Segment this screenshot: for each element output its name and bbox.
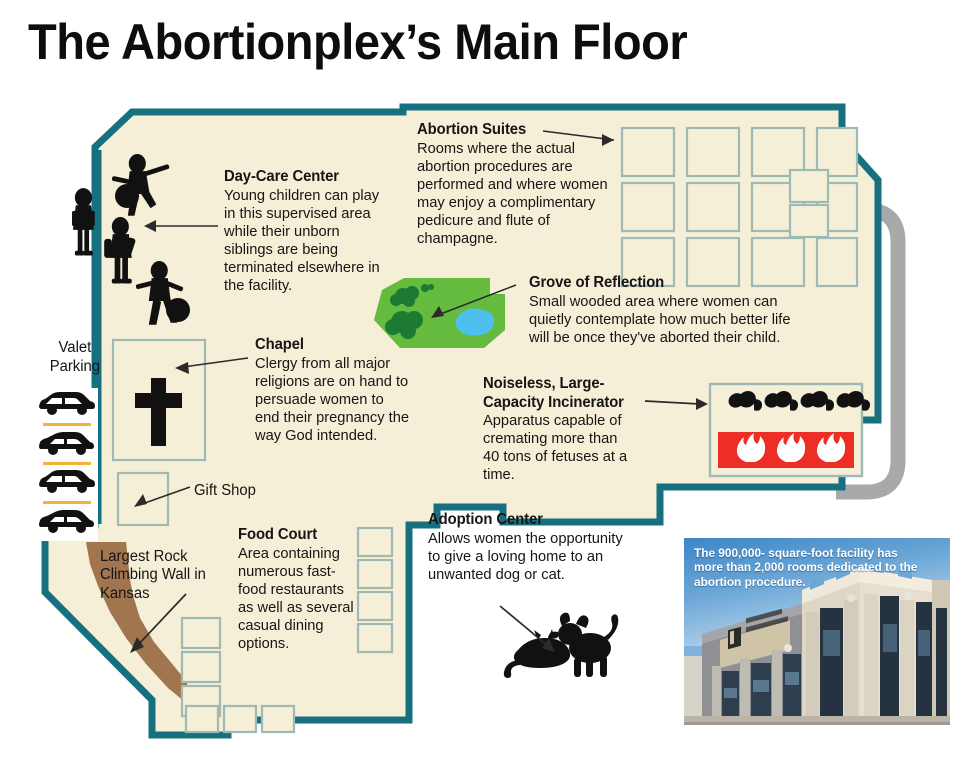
- callout-grove-heading: Grove of Reflection: [529, 274, 795, 293]
- callout-incinerator: Noiseless, Large-Capacity Incinerator Ap…: [483, 375, 637, 485]
- callout-food-court-heading: Food Court: [238, 526, 354, 545]
- callout-chapel-body: Clergy from all major religions are on h…: [255, 355, 411, 445]
- callout-grove: Grove of Reflection Small wooded area wh…: [529, 274, 795, 347]
- daycare-ball-icon: [115, 184, 139, 208]
- valet-parking-label: Valet Parking: [44, 338, 106, 376]
- callout-grove-body: Small wooded area where women can quietl…: [529, 293, 795, 347]
- photo-caption: The 900,000- square-foot facility has mo…: [694, 546, 925, 589]
- valet-space: [36, 505, 98, 539]
- valet-space: [36, 427, 98, 461]
- callout-adoption-heading: Adoption Center: [428, 511, 631, 530]
- parking-space-divider: [43, 501, 91, 504]
- parking-space-divider: [43, 423, 91, 426]
- callout-incinerator-heading: Noiseless, Large-Capacity Incinerator: [483, 375, 637, 412]
- callout-abortion-suites: Abortion Suites Rooms where the actual a…: [417, 121, 615, 248]
- daycare-ball-icon: [166, 298, 190, 322]
- callout-daycare-heading: Day-Care Center: [224, 168, 390, 187]
- facility-photo: The 900,000- square-foot facility has mo…: [684, 538, 950, 725]
- minivan-silhouette: [38, 391, 96, 417]
- callout-food-court-body: Area containing numerous fast-food resta…: [238, 545, 354, 654]
- sedan-silhouette: [38, 430, 96, 456]
- callout-rock-wall: Largest Rock Climbing Wall in Kansas: [100, 548, 208, 603]
- infographic-canvas: The Abortionplex’s Main Floor: [0, 0, 954, 763]
- callout-adoption-body: Allows women the opportunity to give a l…: [428, 530, 631, 584]
- callout-chapel: Chapel Clergy from all major religions a…: [255, 336, 411, 445]
- callout-abortion-suites-heading: Abortion Suites: [417, 121, 615, 140]
- valet-space: [36, 466, 98, 500]
- callout-daycare: Day-Care Center Young children can play …: [224, 168, 390, 295]
- planned-parenthood-logo: [728, 627, 741, 649]
- callout-daycare-body: Young children can play in this supervis…: [224, 187, 390, 296]
- callout-incinerator-body: Apparatus capable of cremating more than…: [483, 412, 637, 484]
- callout-food-court: Food Court Area containing numerous fast…: [238, 526, 354, 653]
- callout-abortion-suites-body: Rooms where the actual abortion procedur…: [417, 140, 615, 249]
- sedan-silhouette: [38, 508, 96, 534]
- callout-gift-shop: Gift Shop: [194, 482, 281, 500]
- parking-space-divider: [43, 462, 91, 465]
- minivan-silhouette: [38, 469, 96, 495]
- valet-parking-lot: [36, 388, 98, 541]
- valet-space: [36, 388, 98, 422]
- callout-adoption: Adoption Center Allows women the opportu…: [428, 511, 631, 584]
- callout-chapel-heading: Chapel: [255, 336, 411, 355]
